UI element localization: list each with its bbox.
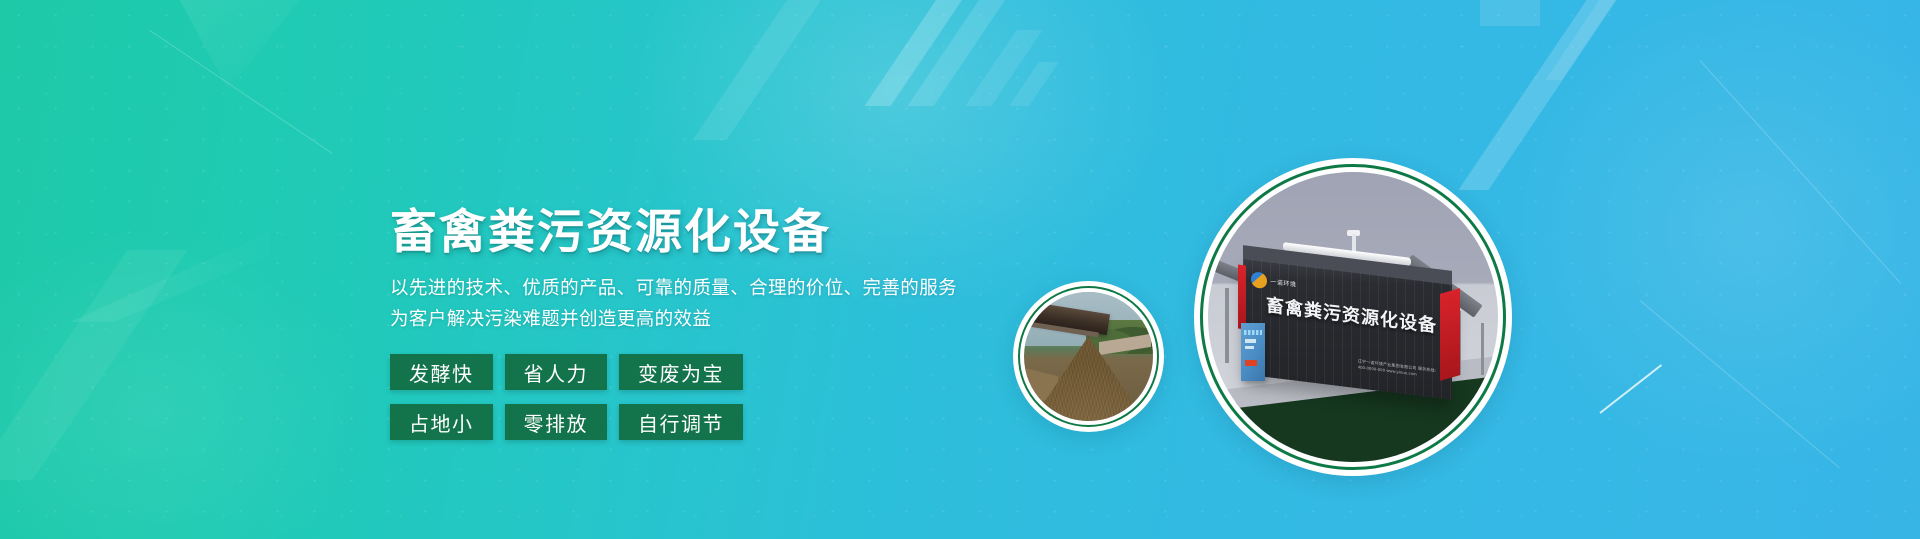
machine-red-panel-right (1440, 288, 1460, 381)
conveyor-leg-left-a (1225, 288, 1229, 363)
banner-headline: 畜禽粪污资源化设备 (390, 204, 1030, 259)
diagonal-slash-decor-1 (865, 0, 972, 106)
wedge-decor-top-right (1480, 0, 1540, 26)
cabinet-display-row-a (1245, 339, 1256, 342)
hairline-decor-left-faint (150, 30, 333, 154)
hairline-decor-right-faint (1640, 300, 1840, 468)
diagonal-stripe-right-thin (1545, 0, 1662, 80)
brand-logo-text: 一诺环境 (1270, 276, 1296, 288)
feature-tag-small-footprint[interactable]: 占地小 (390, 404, 493, 440)
banner-text-block: 畜禽粪污资源化设备 以先进的技术、优质的产品、可靠的质量、合理的价位、完善的服务… (390, 204, 1030, 440)
feature-tag-self-adjusting[interactable]: 自行调节 (619, 404, 743, 440)
diagonal-stripe-lower-left (0, 250, 188, 480)
feature-tag-zero-emission[interactable]: 零排放 (505, 404, 608, 440)
photo-clip-compost (1024, 292, 1153, 421)
machine-body: 一诺环境 畜禽粪污资源化设备 辽宁一诺环境产业集团有限公司 服务热线：400-0… (1243, 258, 1452, 400)
machine-red-panel-left (1238, 264, 1246, 329)
feature-tag-fast-fermentation[interactable]: 发酵快 (390, 354, 493, 390)
feature-tag-waste-to-treasure[interactable]: 变废为宝 (619, 354, 743, 390)
banner-subtitle-line-2: 为客户解决污染难题并创造更高的效益 (390, 304, 1030, 335)
feature-tag-labor-saving[interactable]: 省人力 (505, 354, 608, 390)
diagonal-stripe-right (1458, 0, 1643, 190)
diagonal-stripe-left (693, 0, 862, 140)
cabinet-display-row-b (1245, 346, 1254, 349)
diagonal-slash-decor-4 (1009, 62, 1059, 106)
hairline-decor-right (1599, 364, 1662, 414)
product-photo-circle-compost[interactable] (1013, 281, 1164, 432)
diagonal-slash-decor-2 (908, 0, 1015, 106)
wedge-decor-top-left (180, 0, 300, 90)
wedge-decor-left (70, 232, 270, 322)
product-photo-circle-main[interactable]: 一诺环境 畜禽粪污资源化设备 辽宁一诺环境产业集团有限公司 服务热线：400-0… (1194, 158, 1512, 476)
promo-banner: 畜禽粪污资源化设备 以先进的技术、优质的产品、可靠的质量、合理的价位、完善的服务… (0, 0, 1920, 539)
banner-subtitle-line-1: 以先进的技术、优质的产品、可靠的质量、合理的价位、完善的服务 (390, 273, 1030, 304)
brand-logo-mark (1251, 271, 1267, 289)
hairline-decor-topright-faint (1700, 60, 1901, 284)
cabinet-indicator-lights (1244, 330, 1262, 335)
compost-photo-scene (1024, 292, 1153, 421)
photo-clip-main: 一诺环境 畜禽粪污资源化设备 辽宁一诺环境产业集团有限公司 服务热线：400-0… (1208, 172, 1498, 462)
conveyor-leg-right-b (1481, 323, 1485, 375)
feature-tag-list: 发酵快 省人力 变废为宝 占地小 零排放 自行调节 (390, 354, 810, 440)
diagonal-slash-decor-3 (965, 30, 1042, 106)
banner-subtitle: 以先进的技术、优质的产品、可靠的质量、合理的价位、完善的服务 为客户解决污染难题… (390, 273, 1030, 334)
cabinet-emergency-button (1245, 360, 1257, 366)
machine-render-scene: 一诺环境 畜禽粪污资源化设备 辽宁一诺环境产业集团有限公司 服务热线：400-0… (1208, 172, 1498, 462)
control-cabinet (1241, 323, 1264, 381)
